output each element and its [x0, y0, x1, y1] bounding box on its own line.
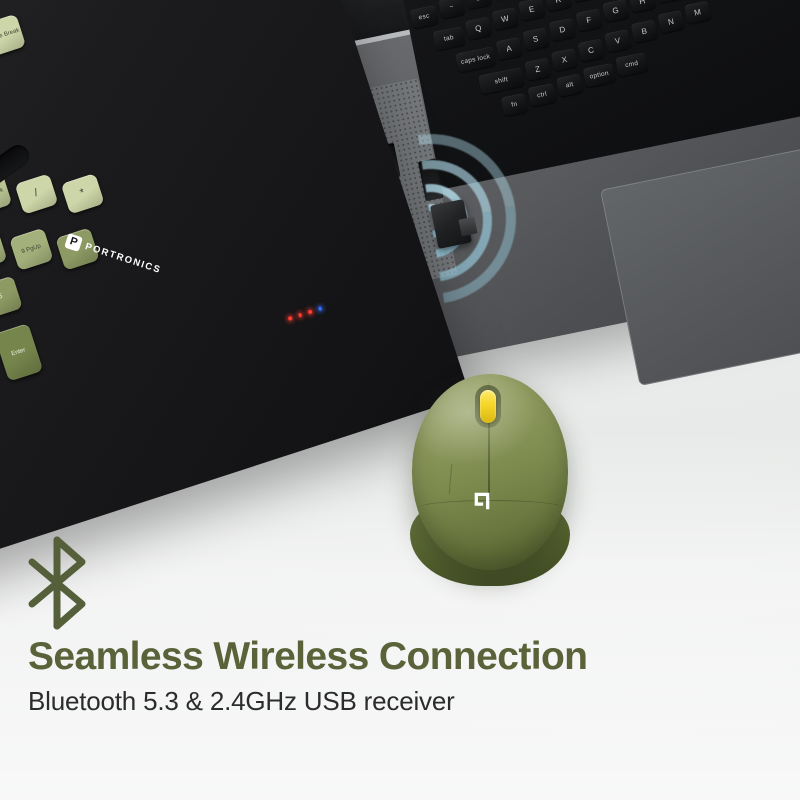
laptop-key[interactable]: J [655, 0, 682, 3]
laptop-key[interactable]: W [491, 7, 518, 30]
usb-receiver-connector [458, 217, 477, 237]
laptop-key[interactable]: R [545, 0, 572, 12]
laptop-key[interactable]: Z [524, 58, 551, 81]
mouse-scroll-wheel[interactable] [480, 390, 496, 423]
mouse-brand-logo-icon [471, 490, 493, 512]
laptop-key[interactable]: ~ [438, 0, 465, 19]
headline: Seamless Wireless Connection [28, 636, 788, 678]
laptop-key[interactable]: cmd [615, 52, 648, 77]
laptop-key[interactable]: 1 [465, 0, 492, 9]
laptop-key[interactable]: N [657, 10, 684, 33]
laptop-key[interactable]: H [629, 0, 656, 13]
laptop-key[interactable]: C [577, 39, 604, 62]
laptop-key[interactable]: Q [465, 17, 492, 40]
laptop-key[interactable]: caps lock [455, 46, 496, 72]
laptop-key[interactable]: E [518, 0, 545, 21]
laptop-key[interactable]: alt [556, 74, 583, 97]
laptop-key[interactable]: option [583, 63, 616, 88]
laptop-key[interactable]: B [631, 20, 658, 43]
led-indicator-red-1 [288, 316, 292, 320]
laptop-key[interactable]: ctrl [527, 83, 556, 107]
laptop-key[interactable]: shift [478, 67, 525, 94]
laptop-key[interactable]: T [571, 0, 598, 2]
laptop-key[interactable]: fn [501, 93, 528, 116]
laptop-key[interactable]: G [602, 0, 629, 22]
subheadline: Bluetooth 5.3 & 2.4GHz USB receiver [28, 686, 788, 717]
laptop-key[interactable]: A [495, 37, 522, 60]
product-banner: esc~1234567890tabQWERTYUIOPcaps lockASDF… [0, 0, 800, 800]
laptop-key[interactable]: X [551, 48, 578, 71]
led-indicator-red-3 [308, 310, 312, 314]
text-block: Seamless Wireless Connection Bluetooth 5… [28, 636, 788, 717]
bluetooth-icon [20, 534, 94, 632]
wireless-mouse[interactable] [404, 372, 580, 592]
laptop-key[interactable]: M [684, 1, 711, 24]
laptop-key[interactable]: F [575, 8, 602, 31]
laptop-key[interactable]: esc [409, 5, 438, 29]
laptop-key[interactable]: tab [432, 26, 465, 51]
led-indicator-red-2 [298, 313, 302, 317]
laptop-key[interactable]: V [604, 29, 631, 52]
led-indicator-blue [318, 307, 322, 311]
laptop-key[interactable]: S [522, 27, 549, 50]
laptop-key[interactable]: D [549, 18, 576, 41]
